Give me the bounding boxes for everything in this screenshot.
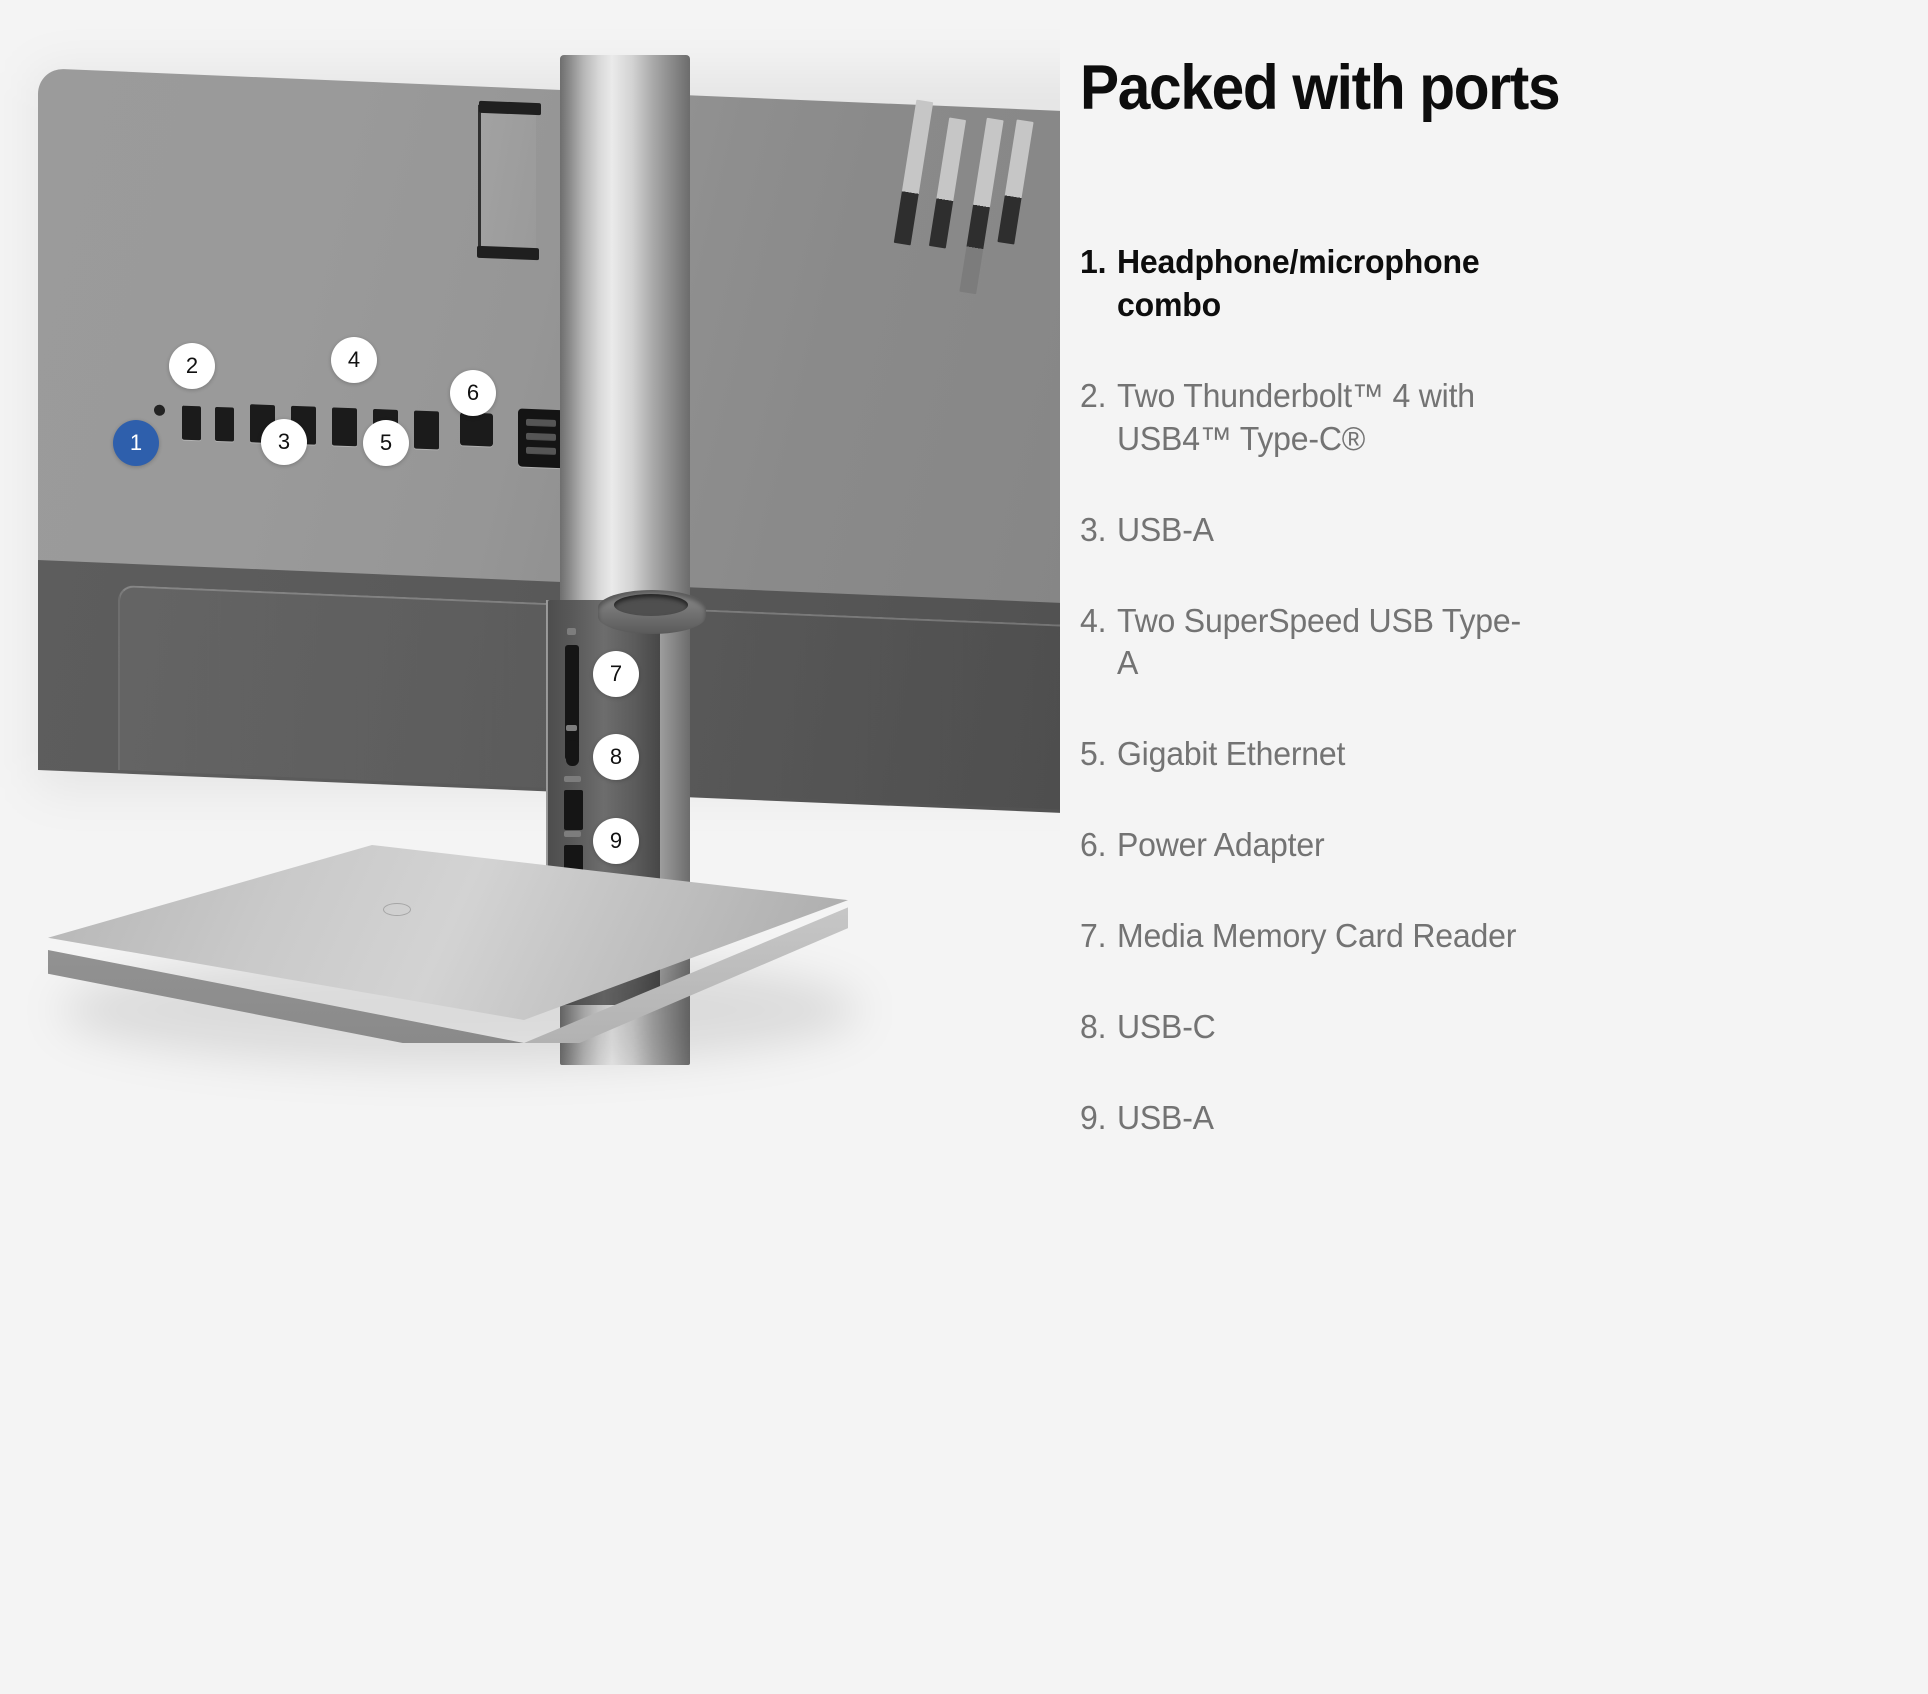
port-list-item-label: USB-A bbox=[1117, 509, 1536, 552]
port-list-item-3[interactable]: 3.USB-A bbox=[1080, 509, 1536, 552]
cable-management-hole bbox=[614, 594, 688, 616]
callout-marker-2[interactable]: 2 bbox=[169, 343, 215, 389]
port-list-item-label: Two SuperSpeed USB Type-A bbox=[1117, 600, 1536, 686]
port-list-item-label: USB-C bbox=[1117, 1006, 1536, 1049]
port-list-item-2[interactable]: 2.Two Thunderbolt™ 4 with USB4™ Type-C® bbox=[1080, 375, 1536, 461]
port-list-item-number: 9. bbox=[1080, 1097, 1106, 1140]
base-center-marker bbox=[383, 903, 411, 916]
hp-logo-icon bbox=[905, 60, 1035, 260]
callout-marker-5[interactable]: 5 bbox=[363, 420, 409, 466]
power-pin-2 bbox=[526, 433, 556, 440]
callout-marker-3[interactable]: 3 bbox=[261, 419, 307, 465]
port-list: 1.Headphone/microphone combo2.Two Thunde… bbox=[1080, 241, 1868, 1140]
usb-a-label-icon-2 bbox=[564, 831, 581, 837]
callout-marker-7[interactable]: 7 bbox=[593, 651, 639, 697]
callout-marker-9[interactable]: 9 bbox=[593, 818, 639, 864]
port-list-item-number: 6. bbox=[1080, 824, 1106, 867]
port-list-item-label: Gigabit Ethernet bbox=[1117, 733, 1536, 776]
port-list-item-number: 1. bbox=[1080, 241, 1106, 284]
product-photo: 123456789 bbox=[0, 0, 1060, 1694]
port-list-item-5[interactable]: 5.Gigabit Ethernet bbox=[1080, 733, 1536, 776]
vesa-bracket-top-tab bbox=[479, 101, 541, 115]
ethernet-port bbox=[460, 412, 493, 446]
callout-marker-4[interactable]: 4 bbox=[331, 337, 377, 383]
port-list-item-6[interactable]: 6.Power Adapter bbox=[1080, 824, 1536, 867]
usb-c-port-1 bbox=[182, 406, 201, 441]
info-panel: Packed with ports 1.Headphone/microphone… bbox=[1060, 0, 1928, 1694]
port-list-item-label: Headphone/microphone combo bbox=[1117, 241, 1536, 327]
port-list-item-9[interactable]: 9.USB-A bbox=[1080, 1097, 1536, 1140]
stand-usb-a-port-1 bbox=[564, 790, 583, 830]
power-pin-3 bbox=[526, 447, 556, 454]
port-list-item-4[interactable]: 4.Two SuperSpeed USB Type-A bbox=[1080, 600, 1536, 686]
port-list-item-number: 5. bbox=[1080, 733, 1106, 776]
callout-marker-8[interactable]: 8 bbox=[593, 734, 639, 780]
power-pin-1 bbox=[526, 419, 556, 426]
usb-c-port-2 bbox=[215, 407, 234, 442]
usb-c-label-icon bbox=[566, 725, 577, 731]
port-list-item-number: 3. bbox=[1080, 509, 1106, 552]
callout-marker-1[interactable]: 1 bbox=[113, 420, 159, 466]
port-list-item-label: Power Adapter bbox=[1117, 824, 1536, 867]
port-list-item-label: Two Thunderbolt™ 4 with USB4™ Type-C® bbox=[1117, 375, 1536, 461]
card-reader-label-icon bbox=[567, 628, 576, 635]
port-list-item-number: 8. bbox=[1080, 1006, 1106, 1049]
usb-a-port-5 bbox=[414, 411, 439, 450]
port-callout-page: 123456789 Packed with ports 1.Headphone/… bbox=[0, 0, 1928, 1694]
callout-marker-6[interactable]: 6 bbox=[450, 370, 496, 416]
usb-a-label-icon-1 bbox=[564, 776, 581, 782]
port-list-item-label: Media Memory Card Reader bbox=[1117, 915, 1536, 958]
port-list-item-8[interactable]: 8.USB-C bbox=[1080, 1006, 1536, 1049]
port-list-item-label: USB-A bbox=[1117, 1097, 1536, 1140]
vesa-bracket bbox=[478, 105, 536, 259]
headphone-jack-port bbox=[154, 405, 165, 416]
port-list-item-number: 2. bbox=[1080, 375, 1106, 418]
port-list-item-1[interactable]: 1.Headphone/microphone combo bbox=[1080, 241, 1536, 327]
port-list-item-number: 7. bbox=[1080, 915, 1106, 958]
usb-a-port-3 bbox=[332, 407, 357, 446]
port-list-item-number: 4. bbox=[1080, 600, 1106, 643]
page-title: Packed with ports bbox=[1080, 55, 1813, 121]
vesa-bracket-bottom-tab bbox=[477, 246, 539, 260]
port-list-item-7[interactable]: 7.Media Memory Card Reader bbox=[1080, 915, 1536, 958]
stand-usb-c-port bbox=[566, 740, 579, 766]
